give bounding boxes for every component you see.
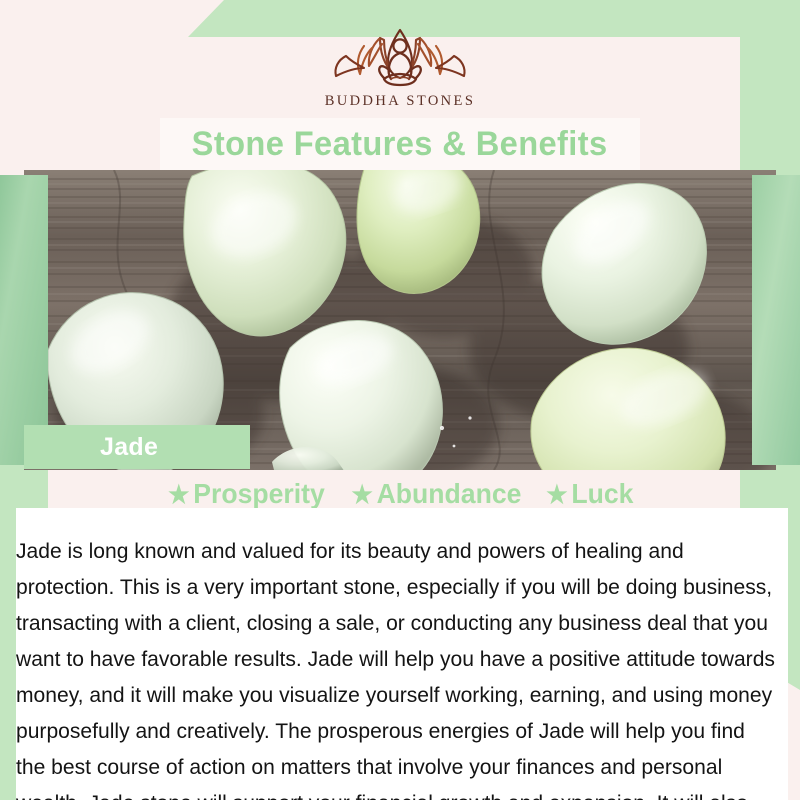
star-icon: ★ bbox=[352, 481, 373, 509]
benefit-label: Luck bbox=[571, 478, 633, 509]
decorative-strip-left-overlay bbox=[0, 175, 48, 465]
page-title: Stone Features & Benefits bbox=[192, 125, 608, 164]
decorative-strip-right-overlay bbox=[752, 175, 800, 465]
benefit-label: Abundance bbox=[377, 478, 522, 509]
stone-info-card: BUDDHA STONES Stone Features & Benefits bbox=[0, 0, 800, 800]
benefit-item-prosperity: ★Prosperity bbox=[168, 478, 325, 510]
lotus-meditation-icon bbox=[324, 22, 476, 88]
benefit-item-abundance: ★Abundance bbox=[352, 478, 522, 510]
brand-name: BUDDHA STONES bbox=[0, 93, 800, 110]
description-text: Jade is long known and valued for its be… bbox=[16, 533, 776, 800]
benefits-row: ★Prosperity★Abundance★Luck bbox=[0, 478, 800, 510]
benefit-label: Prosperity bbox=[193, 478, 325, 509]
star-icon: ★ bbox=[546, 481, 567, 509]
title-plaque: Stone Features & Benefits bbox=[160, 118, 640, 170]
stone-name: Jade bbox=[100, 433, 158, 462]
stone-name-badge: Jade bbox=[24, 425, 250, 469]
description-panel: Jade is long known and valued for its be… bbox=[16, 508, 788, 800]
star-icon: ★ bbox=[168, 481, 189, 509]
brand-logo: BUDDHA STONES bbox=[0, 22, 800, 110]
benefit-item-luck: ★Luck bbox=[546, 478, 633, 510]
